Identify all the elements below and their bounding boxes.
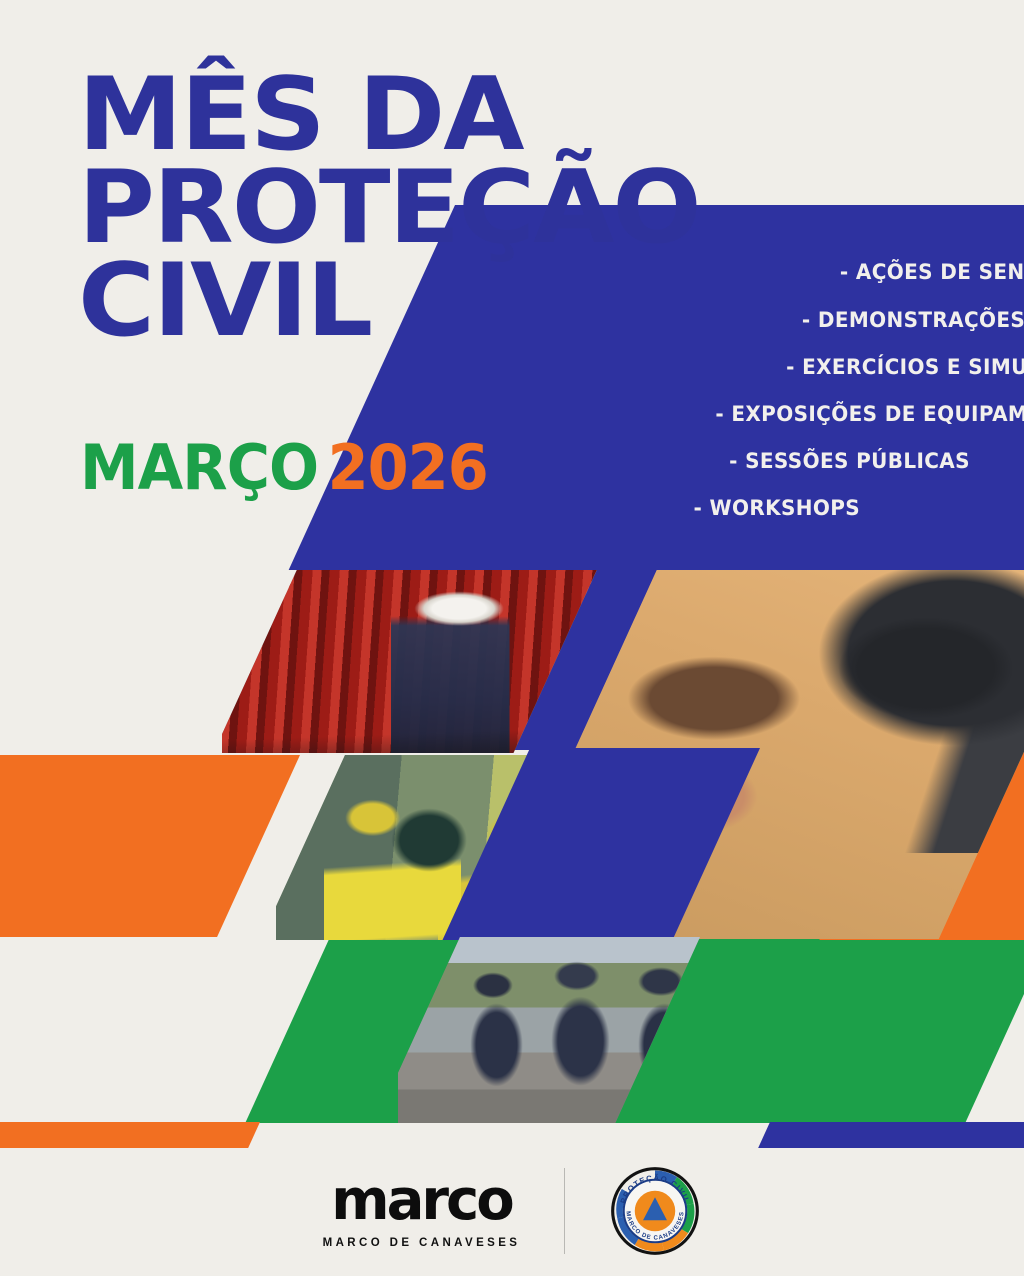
activity-item-5: - WORKSHOPS (694, 496, 860, 521)
civil-protection-badge-icon: PROTEÇÃO CIVIL MARCO DE CANAVESES (609, 1165, 701, 1257)
page-title: MÊS DA PROTEÇÃO CIVIL (78, 68, 698, 347)
civil-protection-badge-svg: PROTEÇÃO CIVIL MARCO DE CANAVESES (609, 1165, 701, 1257)
orange-band-left-mid (0, 755, 300, 937)
event-year: 2026 (328, 431, 488, 504)
activity-item-2: - EXERCÍCIOS E SIMULACROS (786, 355, 1024, 380)
activity-item-0: - AÇÕES DE SENSIBILIZAÇÃO (839, 260, 1024, 285)
event-dateline: MARÇO2026 (80, 437, 488, 499)
logo-divider (564, 1168, 565, 1254)
activity-item-4: - SESSÕES PÚBLICAS (729, 449, 970, 474)
marco-wordmark: marco (323, 1173, 521, 1229)
marco-logo: marco MARCO DE CANAVESES (323, 1173, 521, 1249)
activity-item-3: - EXPOSIÇÕES DE EQUIPAMENTOS (715, 402, 1024, 427)
activity-item-1: - DEMONSTRAÇÕES DE MEIOS (802, 308, 1024, 333)
title-line-3: CIVIL (78, 254, 723, 347)
footer: marco MARCO DE CANAVESES (0, 1146, 1024, 1276)
poster-canvas: MÊS DA PROTEÇÃO CIVIL MARÇO2026 - AÇÕES … (0, 0, 1024, 1276)
event-month: MARÇO (80, 431, 318, 504)
marco-logo-subtitle: MARCO DE CANAVESES (323, 1237, 521, 1249)
